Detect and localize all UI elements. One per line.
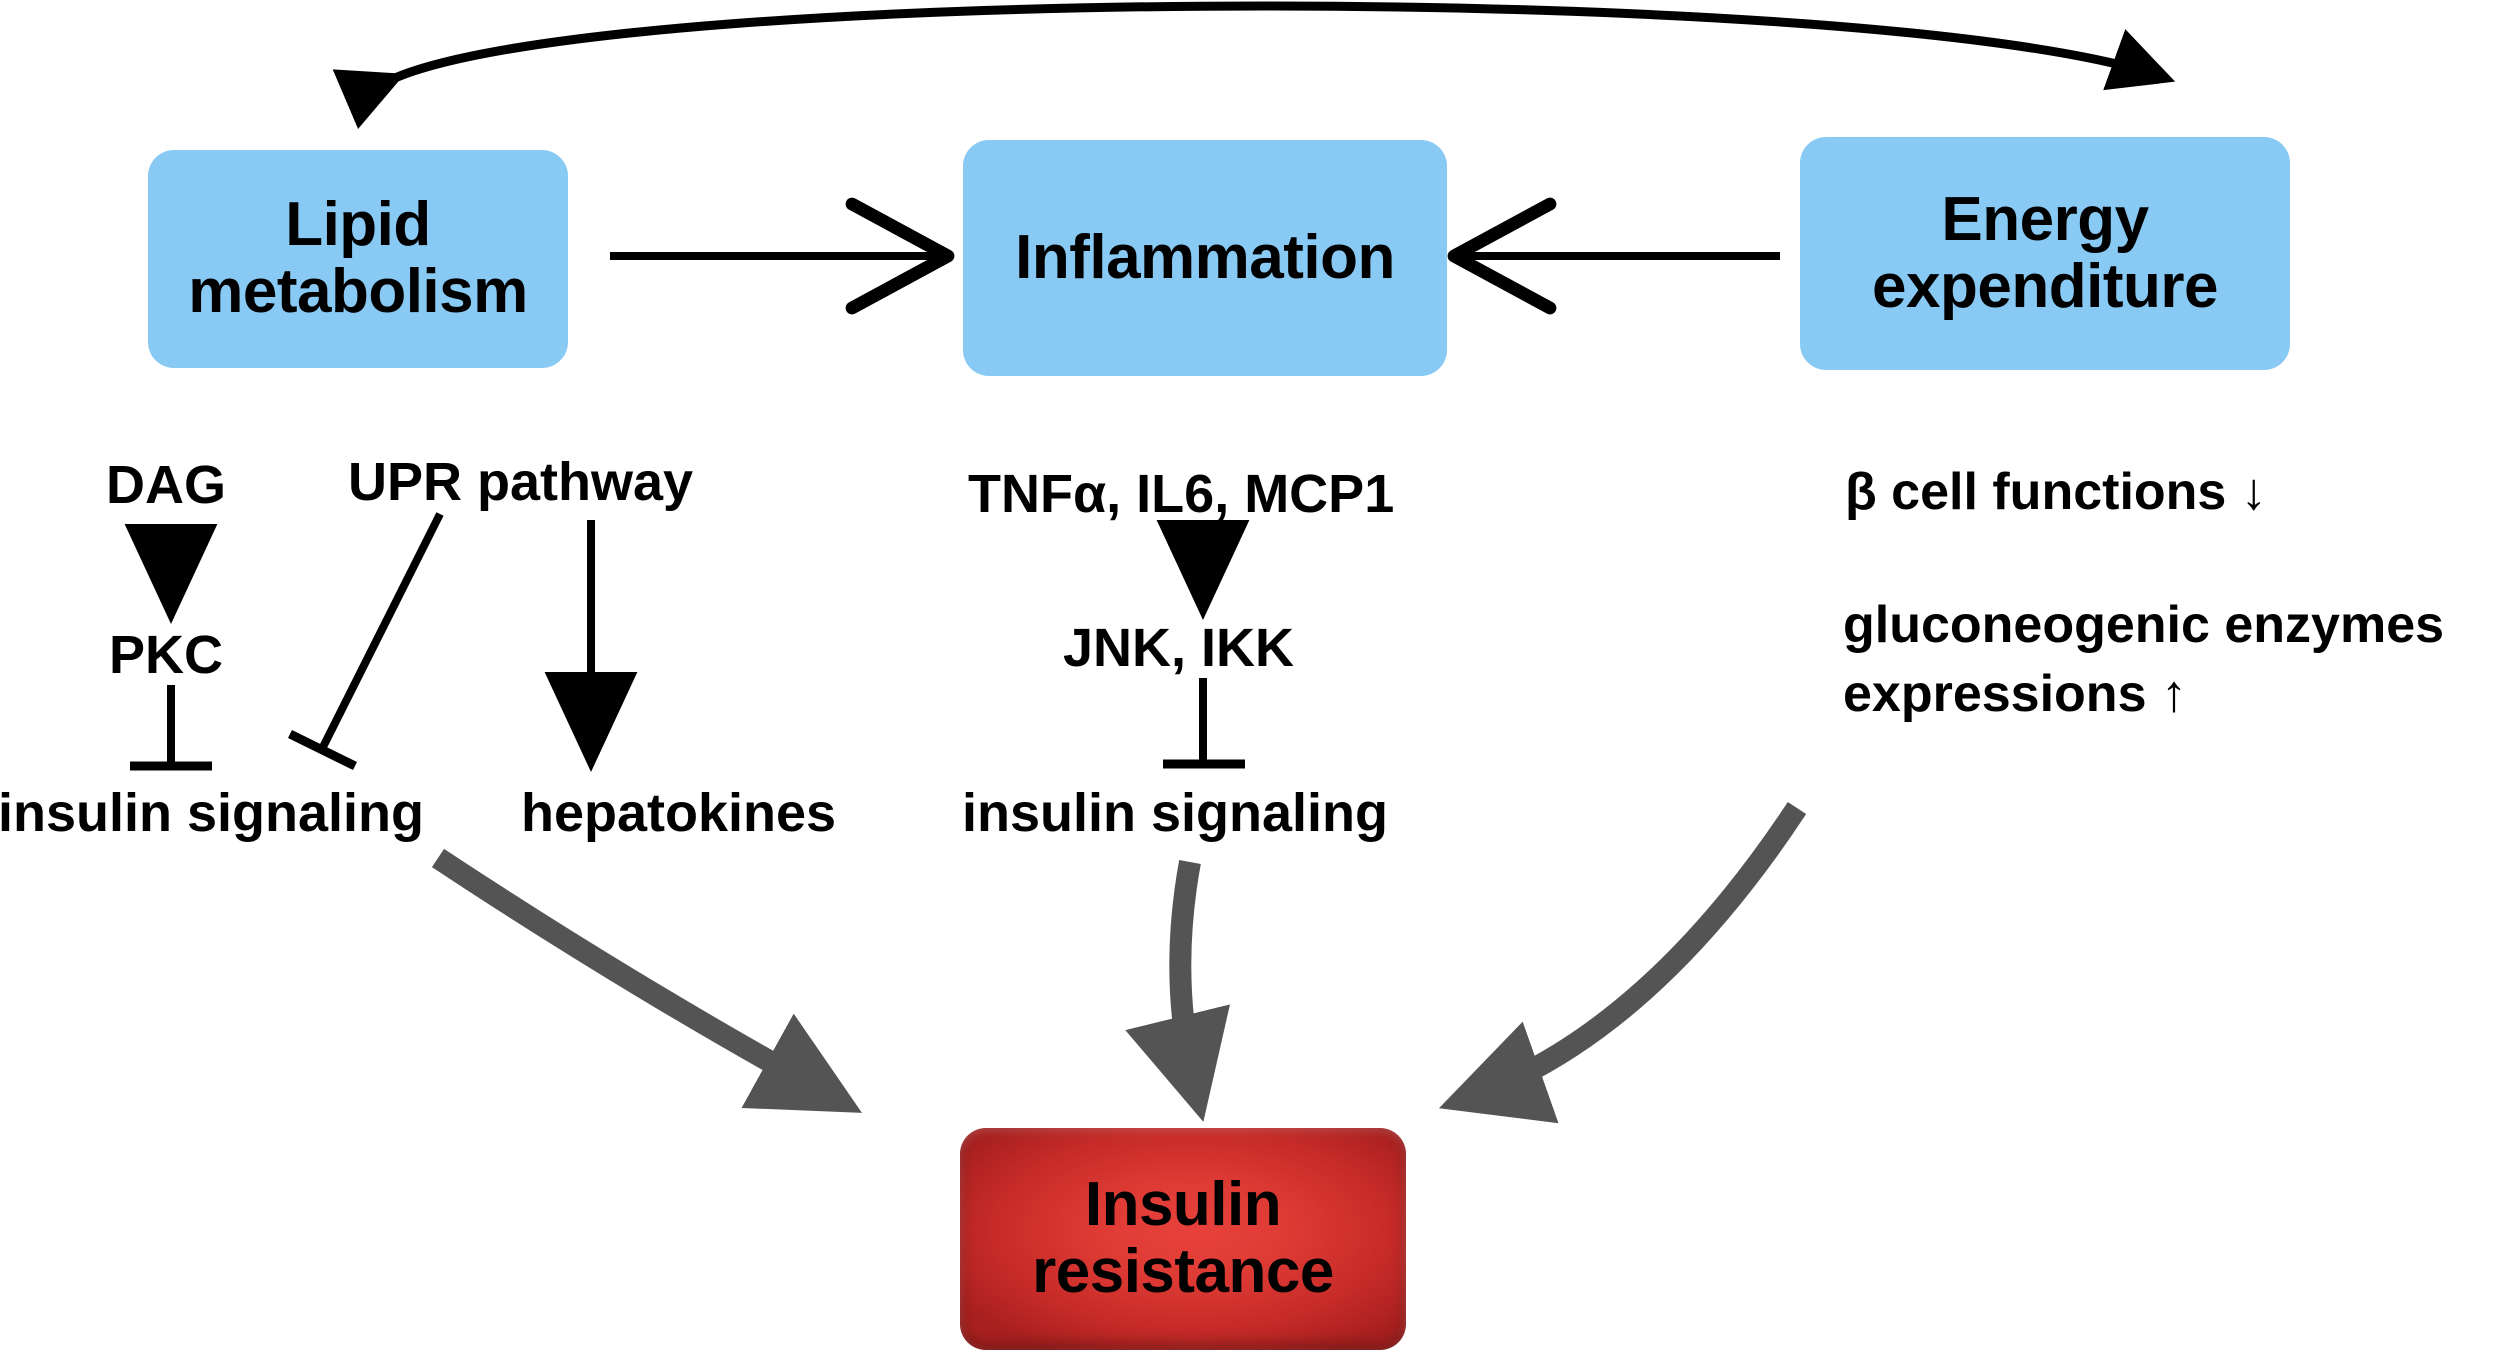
edge-top-double-arc (395, 6, 2165, 78)
edge-kinases-inhibits-insulin-signaling (1163, 678, 1245, 764)
node-lipid-metabolism-line1: Lipid (188, 192, 528, 259)
node-insulin-resistance-text: Insulin resistance (1032, 1172, 1334, 1306)
node-inflammation-text: Inflammation (1015, 225, 1395, 292)
label-insulin-signaling-middle: insulin signaling (962, 783, 1388, 843)
node-insulin-resistance-line2: resistance (1032, 1239, 1334, 1306)
label-cytokines: TNFα, IL6, MCP1 (968, 464, 1394, 524)
node-energy-expenditure-text: Energy expenditure (1872, 187, 2218, 321)
label-insulin-signaling-left: insulin signaling (0, 783, 424, 843)
label-upr-pathway: UPR pathway (348, 452, 693, 512)
node-inflammation[interactable]: Inflammation (963, 140, 1447, 376)
node-energy-expenditure-line2: expenditure (1872, 254, 2218, 321)
label-gluconeogenic-line1: gluconeogenic enzymes (1843, 596, 2444, 654)
edge-pkc-inhibits-insulin-signaling (130, 685, 212, 766)
edge-right-to-insulin-resistance (1468, 808, 1797, 1098)
label-gluconeogenic-line2: expressions ↑ (1843, 665, 2187, 723)
node-energy-expenditure-line1: Energy (1872, 187, 2218, 254)
edge-left-to-insulin-resistance (438, 858, 835, 1098)
edge-upr-inhibits-insulin-signaling (290, 514, 440, 766)
node-insulin-resistance[interactable]: Insulin resistance (960, 1128, 1406, 1350)
diagram-canvas: Lipid metabolism Inflammation Energy exp… (0, 0, 2500, 1359)
node-insulin-resistance-line1: Insulin (1032, 1172, 1334, 1239)
node-lipid-metabolism[interactable]: Lipid metabolism (148, 150, 568, 368)
label-kinases: JNK, IKK (1063, 618, 1294, 678)
edge-middle-to-insulin-resistance (1180, 862, 1196, 1092)
label-pkc: PKC (109, 625, 223, 685)
node-inflammation-line1: Inflammation (1015, 225, 1395, 292)
label-dag: DAG (106, 455, 226, 515)
label-hepatokines: hepatokines (521, 783, 836, 843)
node-lipid-metabolism-line2: metabolism (188, 259, 528, 326)
label-beta-cell-functions: β cell functions ↓ (1845, 463, 2267, 521)
node-energy-expenditure[interactable]: Energy expenditure (1800, 137, 2290, 370)
node-lipid-metabolism-text: Lipid metabolism (188, 192, 528, 326)
